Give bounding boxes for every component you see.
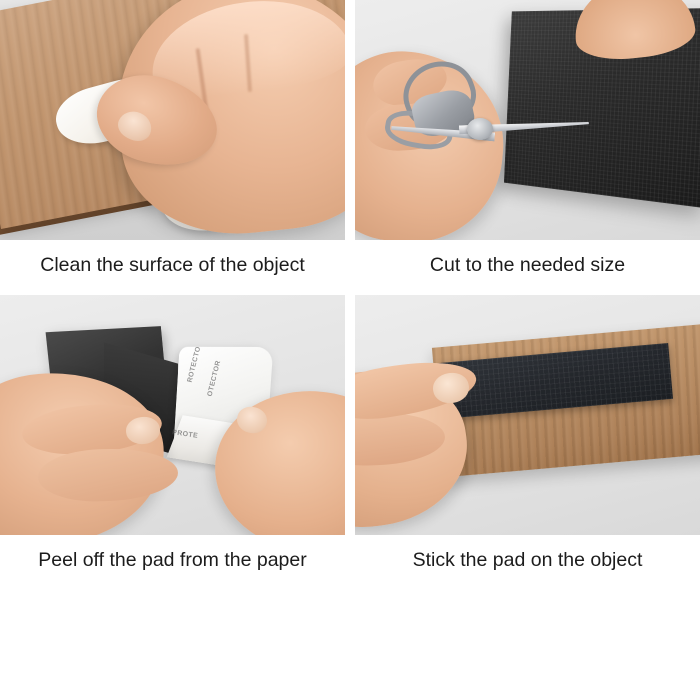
step-caption-3: Peel off the pad from the paper [0,539,345,581]
footer: X-PROTECTOR® EASY TO USE [0,590,700,700]
step-photo-4 [355,295,700,535]
step-caption-4: Stick the pad on the object [355,539,700,581]
photo-peel-liner: ROTECTO OTECTOR PROTE TECTOR [0,295,345,535]
step-caption-1: Clean the surface of the object [0,244,345,286]
photo-stick-pad [355,295,700,535]
instruction-sheet: ROTECTO OTECTOR PROTE TECTOR Clean the s… [0,0,700,700]
photo-clean-surface [0,0,345,240]
step-caption-2: Cut to the needed size [355,244,700,286]
scissors-pivot-screw [467,118,493,140]
step-photo-1 [0,0,345,240]
step-photo-3: ROTECTO OTECTOR PROTE TECTOR [0,295,345,535]
photo-cut-to-size [355,0,700,240]
step-photo-2 [355,0,700,240]
